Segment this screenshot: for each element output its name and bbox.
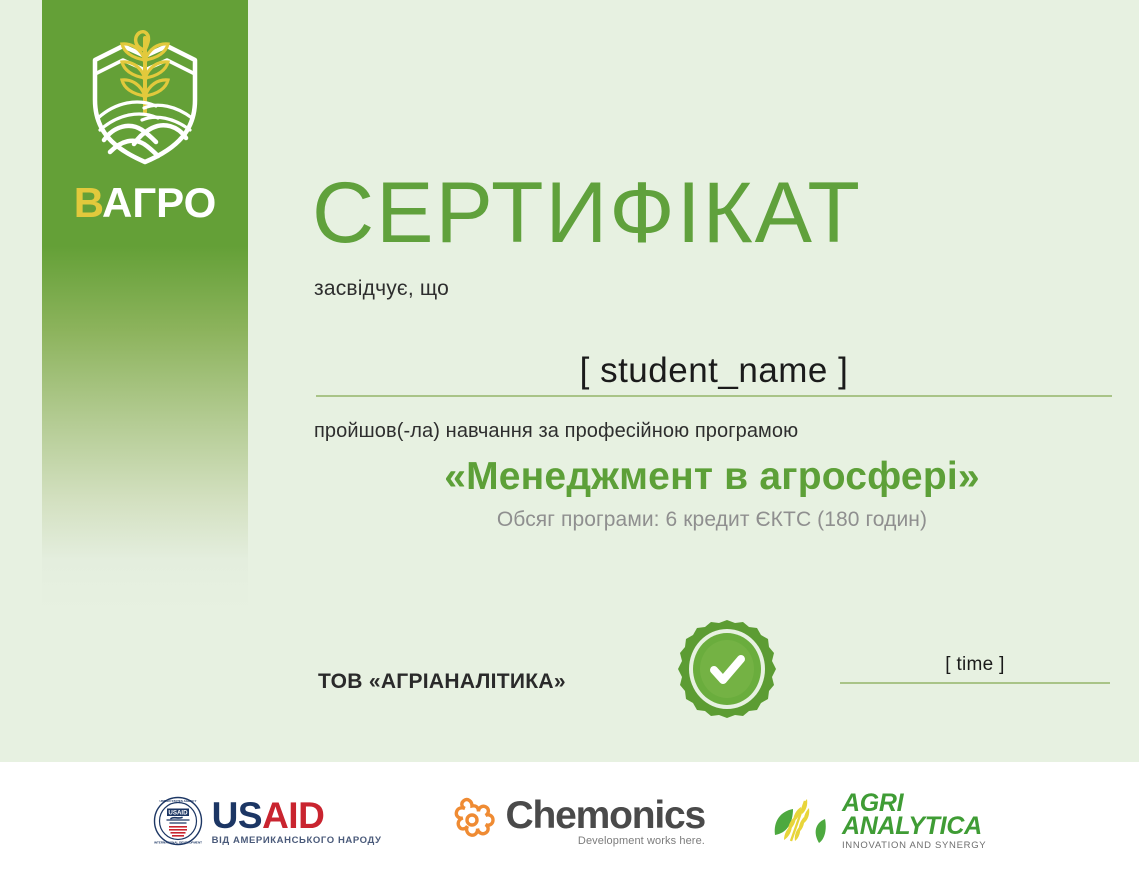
wheat-leaves-icon <box>771 795 835 847</box>
brand-wordmark: ВАГРО <box>74 182 217 224</box>
page-title: СЕРТИФІКАТ <box>312 170 862 256</box>
student-name-block: [ student_name ] <box>316 352 1112 397</box>
completion-line: пройшов(-ла) навчання за професійною про… <box>314 420 798 443</box>
shield-wheat-hands-icon <box>86 26 204 176</box>
signature-row: ТОВ «АГРІАНАЛІТИКА» [ time ] <box>312 612 1112 732</box>
program-name: «Менеджмент в агросфері» <box>312 455 1112 499</box>
usaid-seal-icon: UNITED STATES AGENCY INTERNATIONAL DEVEL… <box>153 796 203 846</box>
svg-text:INTERNATIONAL DEVELOPMENT: INTERNATIONAL DEVELOPMENT <box>154 841 202 845</box>
svg-text:USAID: USAID <box>168 809 188 816</box>
partner-logo-bar: UNITED STATES AGENCY INTERNATIONAL DEVEL… <box>0 762 1139 880</box>
student-name-rule <box>316 395 1112 397</box>
partner-usaid: UNITED STATES AGENCY INTERNATIONAL DEVEL… <box>153 796 382 846</box>
verified-seal-check-icon <box>674 618 780 730</box>
chemonics-text: Chemonics Development works here. <box>506 796 705 847</box>
date-block: [ time ] <box>840 654 1110 684</box>
certificate-content: СЕРТИФІКАТ засвідчує, що [ student_name … <box>312 0 1112 762</box>
program-volume: Обсяг програми: 6 кредит ЄКТС (180 годин… <box>312 508 1112 532</box>
usaid-wordmark: USAID <box>212 797 382 834</box>
student-name-value: [ student_name ] <box>316 352 1112 395</box>
usaid-text: USAID ВІД АМЕРИКАНСЬКОГО НАРОДУ <box>212 797 382 846</box>
agri-analytica-text: AGRI ANALYTICA INNOVATION AND SYNERGY <box>842 792 986 851</box>
agri-wordmark-line2: ANALYTICA <box>842 815 986 839</box>
partner-agri-analytica: AGRI ANALYTICA INNOVATION AND SYNERGY <box>771 792 986 851</box>
vagro-brand-logo: ВАГРО <box>42 26 248 256</box>
chemonics-quatrefoil-icon <box>448 797 496 845</box>
chemonics-tagline: Development works here. <box>506 836 705 847</box>
usaid-tagline: ВІД АМЕРИКАНСЬКОГО НАРОДУ <box>212 836 382 846</box>
date-rule <box>840 682 1110 684</box>
usaid-word-part1: US <box>212 795 262 836</box>
attests-line: засвідчує, що <box>314 277 449 301</box>
agri-analytica-tagline: INNOVATION AND SYNERGY <box>842 841 986 851</box>
usaid-word-part2: AID <box>262 795 324 836</box>
partner-chemonics: Chemonics Development works here. <box>448 796 705 847</box>
brand-wordmark-rest: АГРО <box>102 179 216 226</box>
certificate-page: ВАГРО СЕРТИФІКАТ засвідчує, що [ student… <box>0 0 1139 880</box>
certificate-body: ВАГРО СЕРТИФІКАТ засвідчує, що [ student… <box>0 0 1139 762</box>
issuer-name: ТОВ «АГРІАНАЛІТИКА» <box>318 670 566 694</box>
date-value: [ time ] <box>840 654 1110 682</box>
chemonics-wordmark: Chemonics <box>506 796 705 835</box>
brand-wordmark-accent: В <box>74 179 102 226</box>
svg-text:UNITED STATES AGENCY: UNITED STATES AGENCY <box>159 799 196 803</box>
